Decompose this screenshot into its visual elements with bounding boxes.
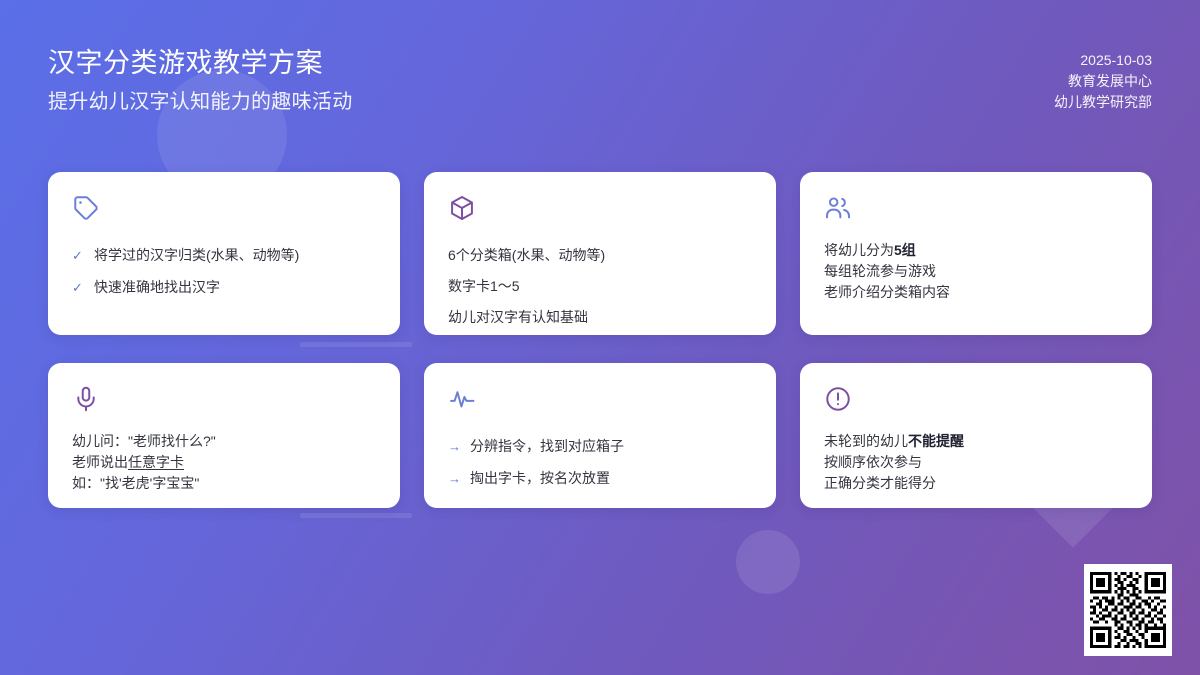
- card-materials-body: 6个分类箱(水果、动物等) 数字卡1～5 幼儿对汉字有认知基础: [448, 240, 752, 333]
- emphasis-text: 5组: [894, 242, 916, 258]
- card-objectives-body: ✓ 将学过的汉字归类(水果、动物等) ✓ 快速准确地找出汉字: [72, 240, 376, 303]
- alert-circle-icon: [824, 385, 1128, 419]
- list-item-label: 掏出字卡，按名次放置: [470, 463, 752, 494]
- text-segment: 老师说出: [72, 454, 128, 470]
- card-objectives[interactable]: ✓ 将学过的汉字归类(水果、动物等) ✓ 快速准确地找出汉字: [48, 172, 400, 335]
- card-steps[interactable]: → 分辨指令，找到对应箱子 → 掏出字卡，按名次放置: [424, 363, 776, 508]
- card-rules[interactable]: 未轮到的幼儿不能提醒 按顺序依次参与 正确分类才能得分: [800, 363, 1152, 508]
- microphone-icon: [72, 385, 376, 419]
- text-segment: 未轮到的幼儿: [824, 433, 908, 449]
- card-materials[interactable]: 6个分类箱(水果、动物等) 数字卡1～5 幼儿对汉字有认知基础: [424, 172, 776, 335]
- list-item: → 分辨指令，找到对应箱子: [448, 431, 752, 462]
- page-subtitle: 提升幼儿汉字认知能力的趣味活动: [48, 86, 353, 118]
- list-item-label: 将学过的汉字归类(水果、动物等): [94, 240, 376, 271]
- list-item-label: 将幼儿分为5组: [824, 240, 1128, 261]
- decor-bar-lower: [300, 513, 412, 518]
- header-title-block: 汉字分类游戏教学方案 提升幼儿汉字认知能力的趣味活动: [48, 44, 353, 118]
- arrow-right-icon: →: [448, 463, 470, 494]
- slide-canvas: 汉字分类游戏教学方案 提升幼儿汉字认知能力的趣味活动 2025-10-03 教育…: [0, 0, 1200, 675]
- card-grouping[interactable]: 将幼儿分为5组 每组轮流参与游戏 老师介绍分类箱内容: [800, 172, 1152, 335]
- list-item-label: 正确分类才能得分: [824, 473, 1128, 494]
- qr-code[interactable]: [1084, 564, 1172, 656]
- users-icon: [824, 194, 1128, 228]
- check-icon: ✓: [72, 272, 94, 303]
- card-dialogue-body: 幼儿问："老师找什么?" 老师说出任意字卡 如："找'老虎'字宝宝": [72, 431, 376, 494]
- text-segment: 将幼儿分为: [824, 242, 894, 258]
- header-meta-block: 2025-10-03 教育发展中心 幼儿教学研究部: [1054, 44, 1152, 113]
- underlined-text: 任意字卡: [128, 454, 184, 470]
- list-item: ✓ 将学过的汉字归类(水果、动物等): [72, 240, 376, 271]
- cube-icon: [448, 194, 752, 228]
- list-item-label: 每组轮流参与游戏: [824, 261, 1128, 282]
- arrow-right-icon: →: [448, 431, 470, 462]
- header-date: 2025-10-03: [1054, 50, 1152, 71]
- card-steps-body: → 分辨指令，找到对应箱子 → 掏出字卡，按名次放置: [448, 431, 752, 494]
- card-rules-body: 未轮到的幼儿不能提醒 按顺序依次参与 正确分类才能得分: [824, 431, 1128, 494]
- list-item-label: 幼儿对汉字有认知基础: [448, 302, 752, 333]
- qr-code-image: [1090, 570, 1166, 650]
- decor-circle-bottom: [736, 530, 800, 594]
- tag-icon: [72, 194, 376, 228]
- list-item: → 掏出字卡，按名次放置: [448, 463, 752, 494]
- list-item-label: 老师介绍分类箱内容: [824, 282, 1128, 303]
- card-grouping-body: 将幼儿分为5组 每组轮流参与游戏 老师介绍分类箱内容: [824, 240, 1128, 303]
- check-icon: ✓: [72, 240, 94, 271]
- list-item-label: 幼儿问："老师找什么?": [72, 431, 376, 452]
- list-item-label: 按顺序依次参与: [824, 452, 1128, 473]
- slide-header: 汉字分类游戏教学方案 提升幼儿汉字认知能力的趣味活动 2025-10-03 教育…: [0, 0, 1200, 118]
- list-item-label: 如："找'老虎'字宝宝": [72, 473, 376, 494]
- header-organization: 教育发展中心: [1054, 71, 1152, 92]
- activity-pulse-icon: [448, 385, 752, 419]
- list-item-label: 6个分类箱(水果、动物等): [448, 240, 752, 271]
- list-item-label: 快速准确地找出汉字: [94, 272, 376, 303]
- list-item: ✓ 快速准确地找出汉字: [72, 272, 376, 303]
- list-item-label: 数字卡1～5: [448, 271, 752, 302]
- page-title: 汉字分类游戏教学方案: [48, 44, 353, 82]
- card-dialogue[interactable]: 幼儿问："老师找什么?" 老师说出任意字卡 如："找'老虎'字宝宝": [48, 363, 400, 508]
- list-item-label: 未轮到的幼儿不能提醒: [824, 431, 1128, 452]
- list-item-label: 分辨指令，找到对应箱子: [470, 431, 752, 462]
- emphasis-text: 不能提醒: [908, 433, 964, 449]
- card-grid: ✓ 将学过的汉字归类(水果、动物等) ✓ 快速准确地找出汉字 6个分类箱(水果、: [48, 172, 1152, 508]
- header-department: 幼儿教学研究部: [1054, 92, 1152, 113]
- list-item-label: 老师说出任意字卡: [72, 452, 376, 473]
